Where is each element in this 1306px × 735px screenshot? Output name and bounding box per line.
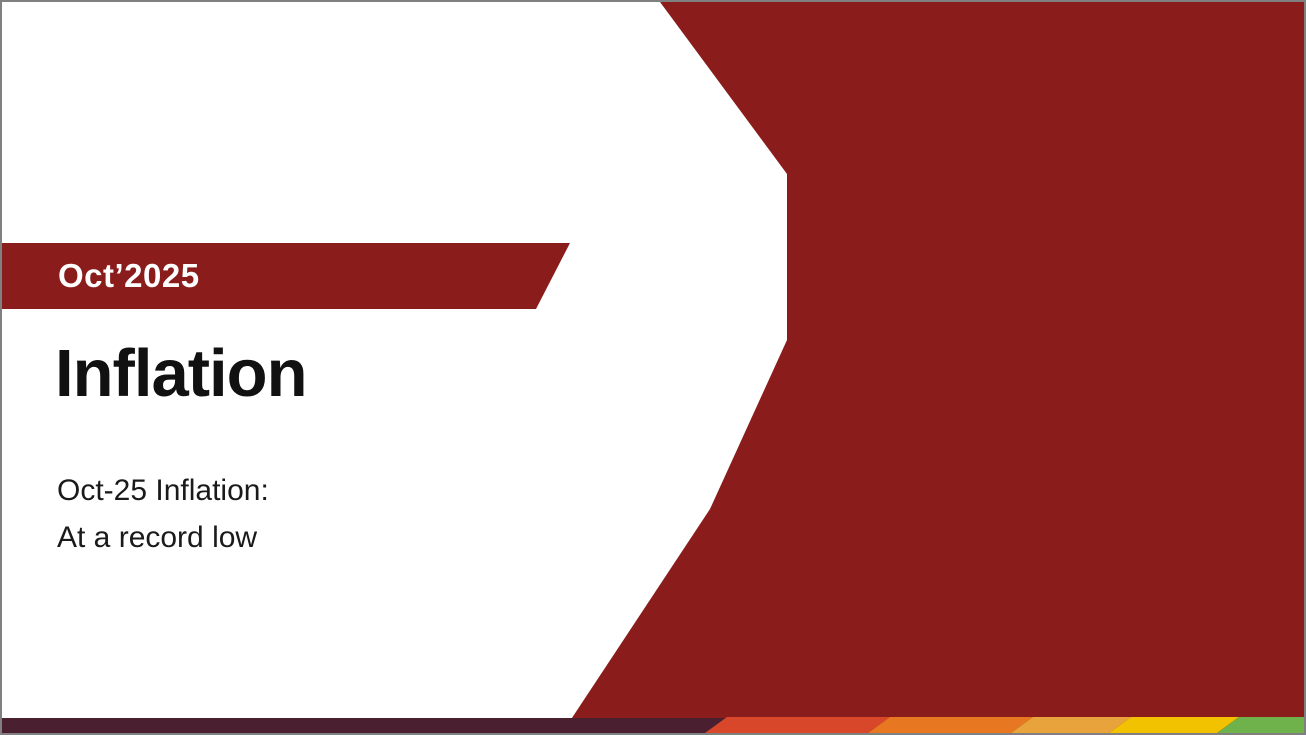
slide-canvas: Oct’2025 Inflation Oct-25 Inflation: At … [2,2,1304,733]
subtitle-line-1: Oct-25 Inflation: [57,468,269,515]
accent-stripe-red-orange [705,717,890,733]
page-title: Inflation [55,340,307,407]
page-subtitle: Oct-25 Inflation: At a record low [57,468,269,561]
subtitle-line-2: At a record low [57,515,269,562]
eyebrow-ribbon: Oct’2025 [2,243,572,309]
accent-stripe-yellow [1109,717,1239,733]
eyebrow-label: Oct’2025 [58,257,200,295]
accent-stripe-orange [868,717,1033,733]
